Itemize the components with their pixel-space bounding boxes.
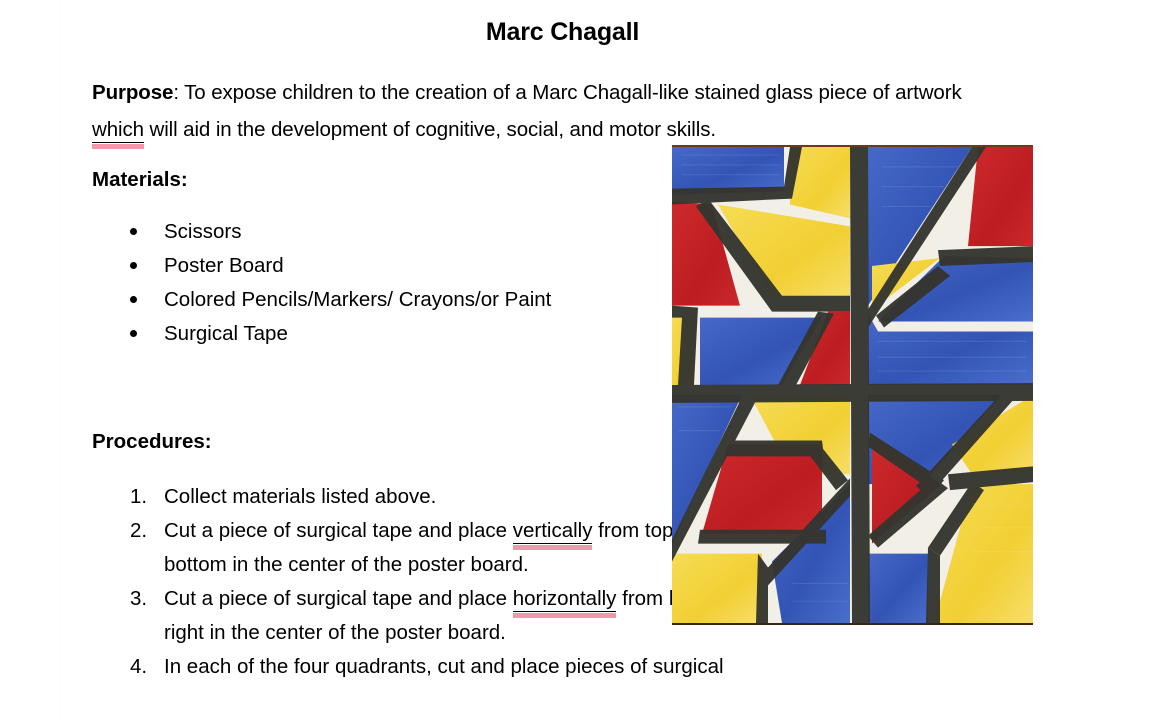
material-label: Poster Board [164,254,284,277]
material-label: Scissors [164,220,241,243]
procedure-text-before: In each of the four quadrants, cut and p… [164,655,724,678]
purpose-text-after: will aid in the development of cognitive… [144,118,716,141]
material-label: Colored Pencils/Markers/ Crayons/or Pain… [164,288,551,311]
purpose-highlighted-word: which [92,118,144,143]
chagall-artwork-image [672,145,1033,625]
list-number: 3. [130,582,147,616]
list-number: 1. [130,480,147,514]
artwork-svg [672,147,1033,623]
list-number: 2. [130,514,147,548]
list-item: 1.Collect materials listed above. [92,480,724,514]
procedure-highlighted-word: horizontally [513,587,617,612]
procedure-text-before: Collect materials listed above. [164,485,436,508]
material-label: Surgical Tape [164,322,288,345]
procedure-text-before: Cut a piece of surgical tape and place [164,587,513,610]
page-title: Marc Chagall [0,18,1125,47]
document-page: Marc Chagall Purpose: To expose children… [0,0,1158,720]
bullet-icon [130,296,137,303]
purpose-label: Purpose [92,81,173,104]
procedure-text-before: Cut a piece of surgical tape and place [164,519,513,542]
purpose-text-before: To expose children to the creation of a … [184,81,961,104]
page-margin-rule [60,0,61,720]
list-item: 4.In each of the four quadrants, cut and… [92,650,724,684]
list-number: 4. [130,650,147,684]
list-item: 3.Cut a piece of surgical tape and place… [92,582,724,650]
purpose-colon: : [173,81,184,104]
procedure-highlighted-word: vertically [513,519,593,544]
bullet-icon [130,262,137,269]
bullet-icon [130,228,137,235]
list-item: 2.Cut a piece of surgical tape and place… [92,514,724,582]
purpose-paragraph: Purpose: To expose children to the creat… [92,74,962,148]
bullet-icon [130,330,137,337]
